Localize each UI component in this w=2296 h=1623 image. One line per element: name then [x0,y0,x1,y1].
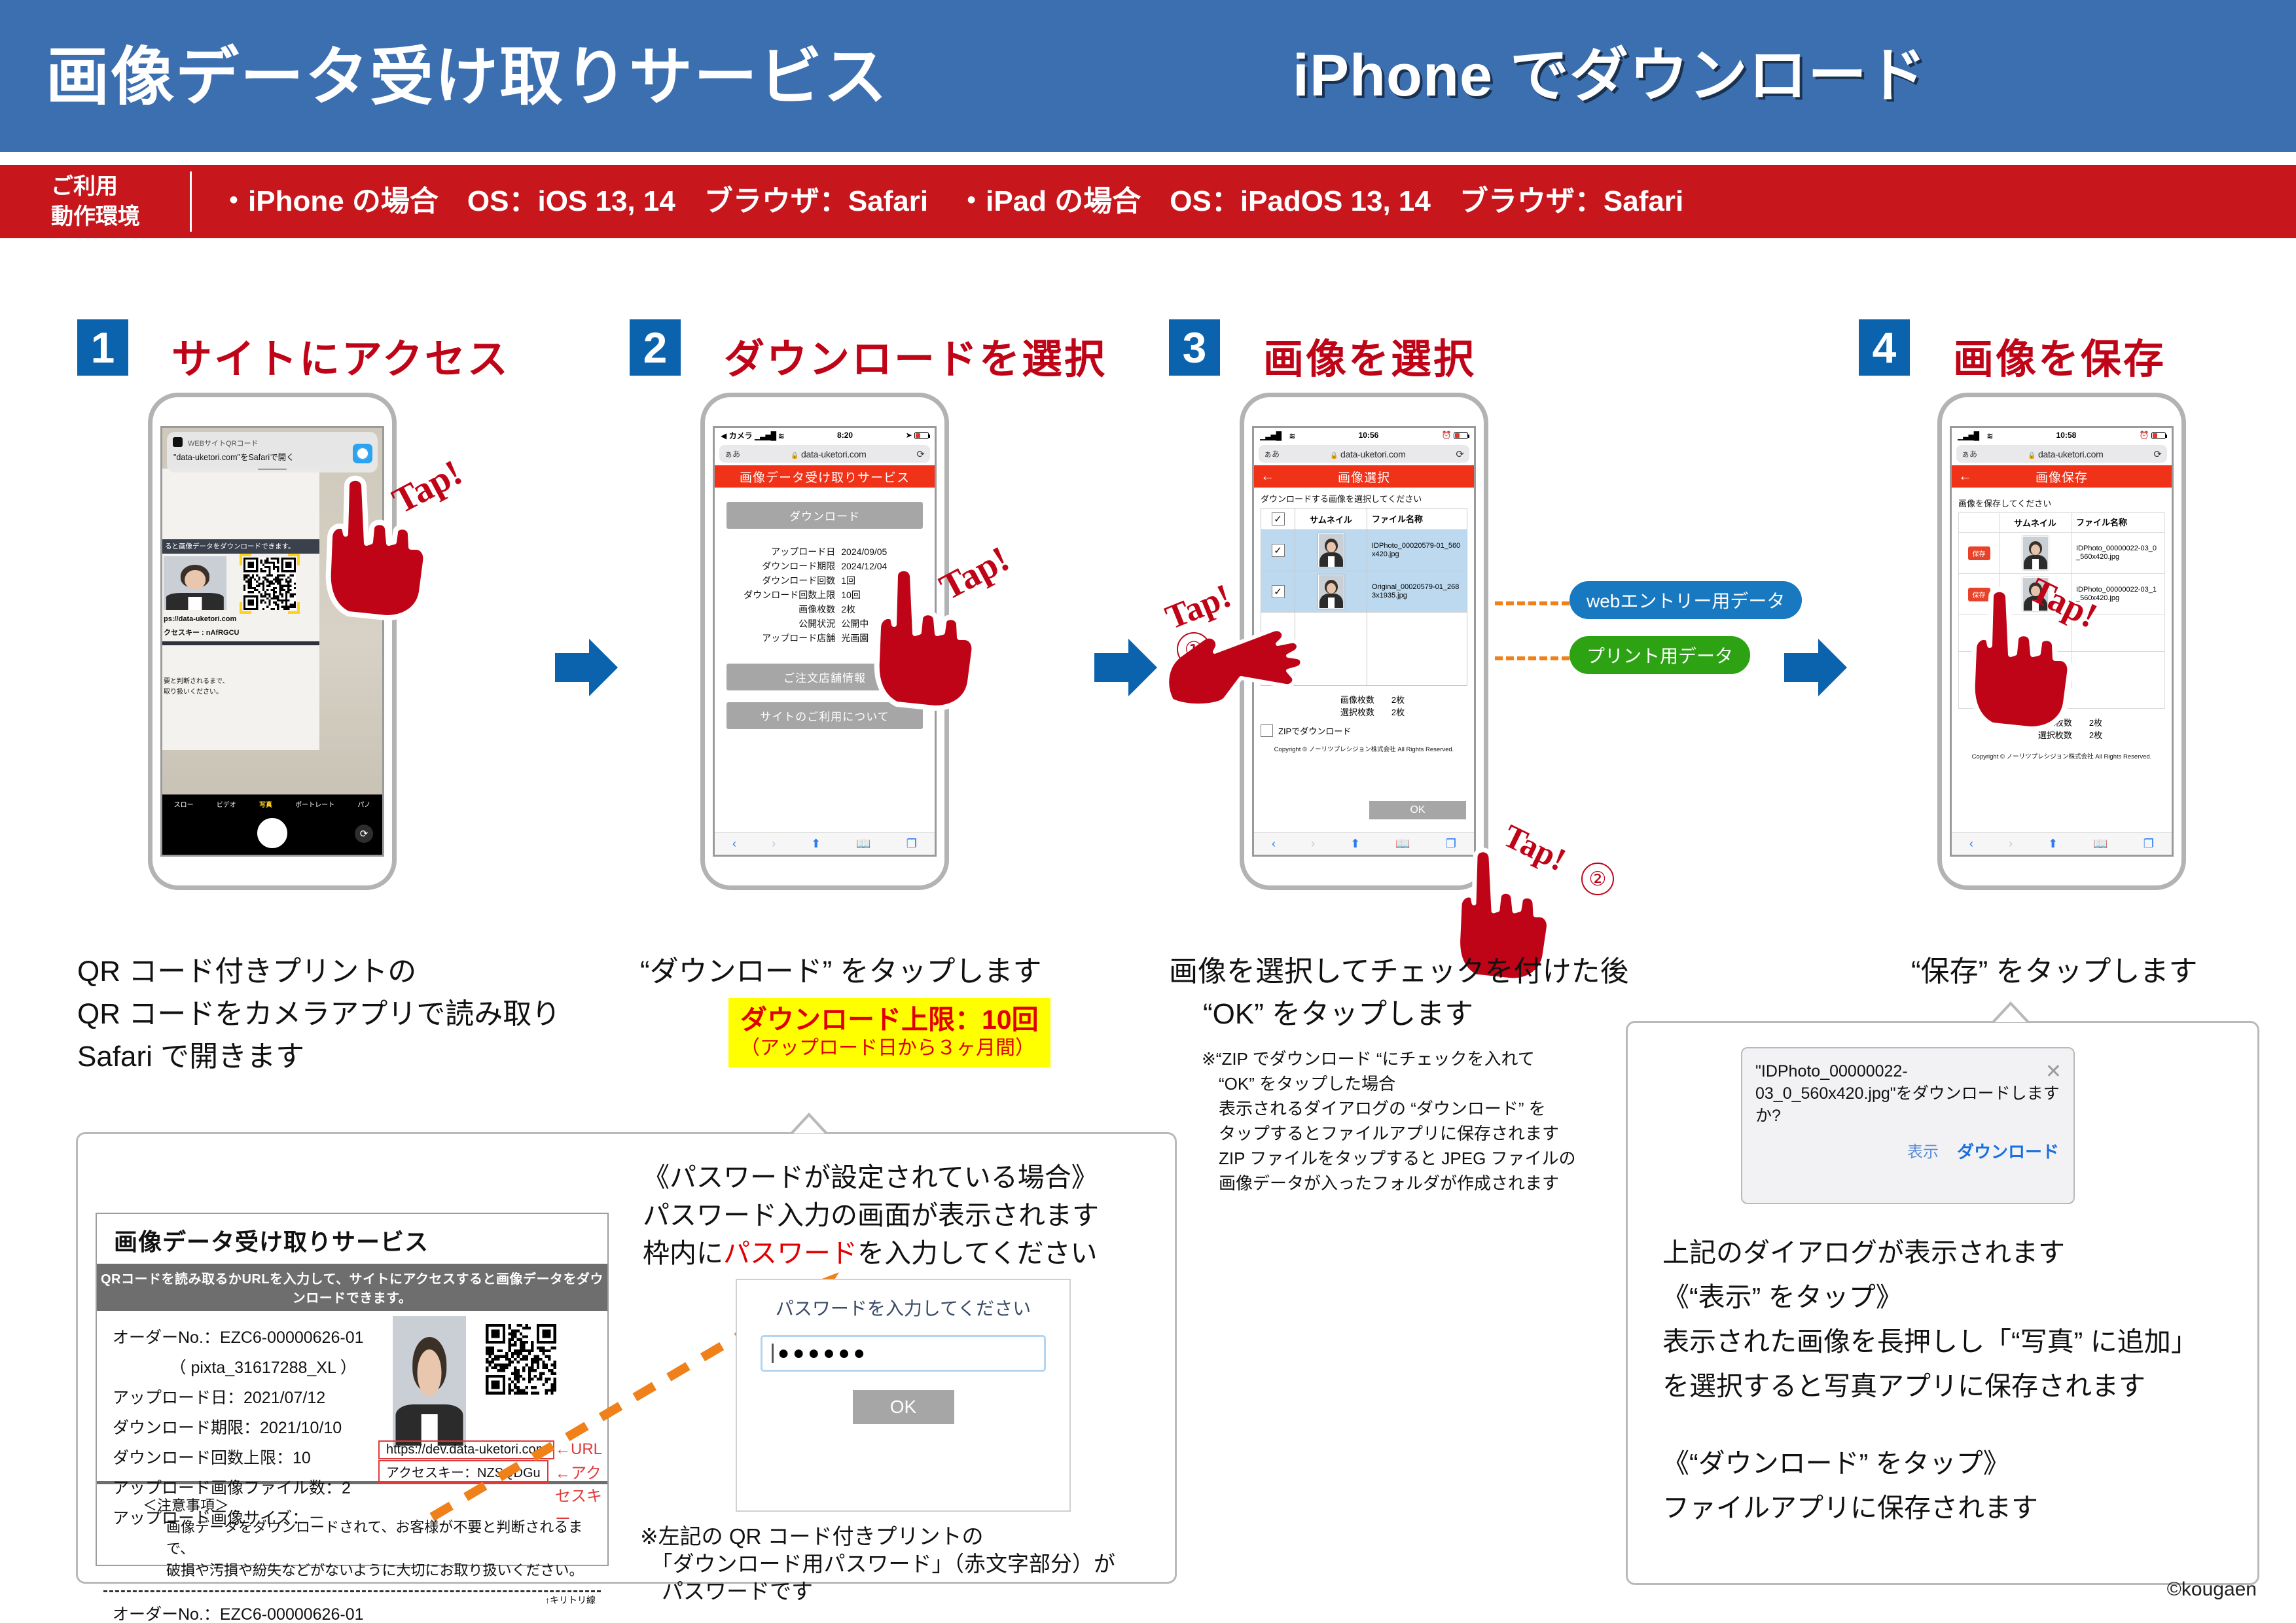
bookmarks-icon[interactable]: 📖 [2093,837,2108,851]
header-filename: ファイル名称 [1367,508,1467,529]
save-line-3: を選択すると写真アプリに保存されます [1662,1364,2198,1408]
password-input[interactable]: ●●●●●● [761,1335,1046,1372]
pill-print-data: プリント用データ [1570,636,1750,674]
poster-root: 画像データ受け取りサービス iPhone でダウンロード ご利用 動作環境 ・i… [0,0,2296,1623]
caption-step1-line1: QR コード付きプリントの [77,952,416,991]
password-footnote-0: ※左記の QR コード付きプリントの [640,1524,984,1550]
download-button[interactable]: ダウンロード [726,502,923,529]
camera-mode-3[interactable]: ポートレート [295,799,334,809]
battery-icon [2151,432,2166,439]
lock-icon: 🔒 [1330,452,1338,459]
camera-mode-2[interactable]: 写真 [259,799,272,809]
phone-3-status-bar: ▁▃▅█ ≋ 10:56 ⏰ [1254,428,1474,442]
dialog-download-button[interactable]: ダウンロード [1957,1139,2059,1163]
count-key: 画像枚数 [1323,694,1374,706]
card-caution-line2: 破損や汚損や紛失などがないように大切にお取り扱いください。 [166,1560,607,1581]
phone-3-app-title: 画像選択 [1338,468,1390,486]
save-button[interactable]: 保存 [1968,546,1990,560]
save-line-2: 表示された画像を長押しし「“写真” に追加」 [1662,1319,2198,1364]
download-limit-badge: ダウンロード上限：10回 （アップロード日から３ヶ月間） [728,998,1050,1067]
phone-3-clock: 10:56 [1359,431,1379,440]
info-key: ダウンロード回数上限 [721,588,841,602]
step-arrow-2-3 [1094,635,1157,700]
signal-icon: ▁▃▅█ [755,431,776,440]
password-footnote-2: パスワードです [640,1578,813,1605]
caption-step3-note-5: 画像データが入ったフォルダが作成されます [1202,1170,1559,1196]
signal-icon: ▁▃▅█ [1958,431,1979,440]
location-icon: ➤ [906,431,912,440]
tap-number-3a: ① [1177,632,1211,666]
caption-step3-note-2: 表示されるダイアログの “ダウンロード” を [1202,1096,1546,1122]
info-key: アップロード店舗 [721,631,841,645]
alarm-icon: ⏰ [1442,431,1452,440]
print-note-2: 取り扱いください。 [164,686,223,696]
back-icon[interactable]: ‹ [1272,837,1276,851]
share-icon[interactable]: ⬆ [1350,837,1360,851]
text-caret [772,1344,774,1363]
camera-mode-0[interactable]: スロー [174,799,194,809]
lock-icon: 🔒 [2028,452,2036,459]
forward-icon: › [2009,837,2013,851]
download-dialog-message: "IDPhoto_00000022-03_0_560x420.jpg"をダウンロ… [1742,1048,2073,1127]
back-arrow-icon[interactable]: ← [1958,469,1973,484]
notification-app-name: WEBサイトQRコード [188,438,259,448]
save-line-4 [1662,1408,2198,1441]
camera-controls: スロー ビデオ 写真 ポートレート パノ ⟳ [162,794,382,855]
zip-label: ZIPでダウンロード [1278,724,1351,737]
phone-3-url-bar[interactable]: ぁあ 🔒 data-uketori.com ⟳ [1259,445,1469,463]
card-title: 画像データ受け取りサービス [97,1214,607,1264]
footer-copyright: ©kougaen [2167,1578,2257,1601]
caption-step1-line3: Safari で開きます [77,1037,304,1077]
caption-step2-line1: “ダウンロード” をタップします [640,952,1042,991]
table-header-row: サムネイル ファイル名称 [1959,513,2164,533]
password-heading-1: 《パスワードが設定されている場合》 [643,1160,1098,1195]
phone-4-hint: 画像を保存してください [1952,488,2172,512]
count-value: 2枚 [1391,706,1405,719]
camera-mode-list[interactable]: スロー ビデオ 写真 ポートレート パノ [162,794,382,809]
phone-3-copyright: Copyright © ノーリツプレシジョン株式会社 All Rights Re… [1254,741,1474,753]
environment-divider [190,171,192,232]
row-checkbox[interactable]: ✓ [1272,544,1285,557]
tabs-icon[interactable]: ❐ [2144,837,2154,851]
reload-icon[interactable]: ⟳ [916,448,925,460]
share-icon[interactable]: ⬆ [2048,837,2058,851]
pill-connector-1 [1495,601,1570,605]
info-key: 画像枚数 [721,602,841,616]
download-dialog-actions[interactable]: 表示 ダウンロード [1742,1127,2073,1175]
info-key: アップロード日 [721,544,841,559]
save-panel-text: 上記のダイアログが表示されます 《“表示” をタップ》 表示された画像を長押しし… [1662,1230,2198,1530]
count-key: 選択枚数 [1323,706,1374,719]
count-row: 選択枚数2枚 [1254,706,1474,719]
phone-4-url-bar[interactable]: ぁあ 🔒 data-uketori.com ⟳ [1956,445,2167,463]
share-icon[interactable]: ⬆ [811,837,821,851]
password-input-value: ●●●●●● [778,1344,869,1363]
notification-message: "data-uketori.com"をSafariで開く [173,450,295,463]
select-all-checkbox[interactable]: ✓ [1272,512,1285,526]
header-filename: ファイル名称 [2072,513,2164,532]
caption-step3-note-3: タップするとファイルアプリに保存されます [1202,1120,1559,1147]
thumbnail-image [1318,575,1344,609]
count-value: 2枚 [1391,694,1405,706]
environment-text: ・iPhone の場合 OS：iOS 13, 14 ブラウザ：Safari ・i… [219,177,1683,219]
thumbnail-image [1318,533,1344,567]
step-title-1: サイトにアクセス [171,326,510,385]
caption-step3-note-1: “OK” をタップした場合 [1202,1071,1395,1097]
caption-step3-line2: “OK” をタップします [1203,995,1473,1034]
bookmarks-icon[interactable]: 📖 [856,837,870,851]
header-save-cell [1959,513,2000,532]
info-key: ダウンロード回数 [721,573,841,588]
environment-label-line1: ご利用 [51,171,182,202]
back-icon[interactable]: ‹ [1969,837,1973,851]
step-number-4: 4 [1859,319,1910,376]
battery-icon [914,432,929,439]
password-heading-3-pre: 枠内に [643,1238,723,1268]
wifi-icon: ≋ [1986,431,1993,440]
table-row[interactable]: ✓ IDPhoto_00020579-01_560x420.jpg [1261,530,1467,571]
reload-icon[interactable]: ⟳ [2153,448,2162,460]
password-heading-3: 枠内にパスワードを入力してください [643,1236,1098,1271]
password-footnote-1: 「ダウンロード用パスワード」（赤文字部分）が [640,1551,1115,1577]
info-key: 公開状況 [721,616,841,631]
phone-4-clock: 10:58 [2056,431,2077,440]
print-divider [162,641,319,645]
password-ok-button[interactable]: OK [853,1390,954,1424]
step-arrow-3-4 [1784,635,1847,700]
pill-connector-2 [1495,656,1570,660]
row-checkbox-cell[interactable]: ✓ [1261,530,1295,571]
qr-scan-brackets [240,554,300,614]
phone-4-url[interactable]: data-uketori.com [2038,449,2103,459]
tap-hand-3a: Tap! ① [1162,589,1313,707]
zip-checkbox[interactable] [1261,724,1273,737]
print-banner-text: ると画像データをダウンロードできます。 [165,541,295,551]
step-arrow-1-2 [555,635,618,700]
forward-icon: › [772,837,776,851]
caption-step1-line2: QR コードをカメラアプリで読み取り [77,995,560,1034]
save-panel-notch-inner [1995,1005,2026,1022]
phone-3-hint: ダウンロードする画像を選択してください [1254,488,1474,508]
text-size-button[interactable]: ぁあ [1962,448,1977,459]
save-line-0: 上記のダイアログが表示されます [1662,1230,2198,1275]
table-header-row: ✓ サムネイル ファイル名称 [1261,508,1467,530]
dialog-show-button[interactable]: 表示 [1907,1139,1939,1163]
print-url-text: ps://data-uketori.com [164,615,236,623]
shutter-button[interactable] [257,818,287,848]
back-icon[interactable]: ‹ [732,837,736,851]
row-filename: IDPhoto_00020579-01_560x420.jpg [1367,530,1467,571]
row-thumbnail-cell [1295,530,1367,571]
caption-step3-note-0: ※“ZIP でダウンロード “にチェックを入れて [1202,1046,1535,1072]
step-title-2: ダウンロードを選択 [724,326,1107,385]
lock-icon: 🔒 [791,452,798,459]
step-number-3: 3 [1169,319,1220,376]
notification-handle [258,469,287,470]
panel-notch-inner [793,1116,825,1133]
alarm-icon: ⏰ [2140,431,2149,440]
text-size-button[interactable]: ぁあ [725,448,740,459]
save-line-1: 《“表示” をタップ》 [1662,1275,2198,1319]
environment-label: ご利用 動作環境 [51,171,182,233]
close-icon[interactable]: ✕ [2045,1060,2062,1083]
pill-web-entry: webエントリー用データ [1570,581,1802,619]
phone-4-app-bar: ← 画像保存 [1952,465,2172,488]
save-line-5: 《“ダウンロード” をタップ》 [1662,1441,2198,1486]
caption-step4-line1: “保存” をタップします [1911,952,2198,991]
phone-4-app-title: 画像保存 [2036,468,2088,486]
step-number-2: 2 [630,319,681,376]
password-heading-2: パスワード入力の画面が表示されます [643,1198,1099,1233]
download-limit-line1: ダウンロード上限：10回 [740,1003,1039,1036]
row-filename: Original_00020579-01_2683x1935.jpg [1367,571,1467,612]
print-key-text: クセスキー : nAfRGCU [164,627,240,637]
qr-code-icon [173,437,183,447]
phone-4-status-bar: ▁▃▅█ ≋ 10:58 ⏰ [1952,428,2172,442]
camera-flip-icon[interactable]: ⟳ [355,825,373,843]
download-dialog: "IDPhoto_00000022-03_0_560x420.jpg"をダウンロ… [1741,1047,2075,1204]
phone-2-url-bar[interactable]: ぁあ 🔒 data-uketori.com ⟳ [719,445,930,463]
wifi-icon: ≋ [778,431,784,440]
camera-mode-1[interactable]: ビデオ [217,799,236,809]
phone-2-status-bar: ◀ カメラ ▁▃▅█ ≋ 8:20 ➤ [715,428,935,442]
phone-4-safari-toolbar[interactable]: ‹ › ⬆ 📖 ❐ [1952,832,2172,855]
battery-icon [1454,432,1468,439]
card-bottom-order: オーダーNo.：EZC6-00000626-01 [113,1600,607,1623]
bookmarks-icon[interactable]: 📖 [1395,837,1410,851]
text-size-button[interactable]: ぁあ [1264,448,1280,459]
save-line-6: ファイルアプリに保存されます [1662,1486,2198,1530]
tap-hand-4: Tap! [1952,563,2096,733]
ok-button[interactable]: OK [1369,801,1466,819]
password-dialog-title: パスワードを入力してください [737,1280,1069,1321]
step-title-4: 画像を保存 [1953,326,2166,385]
tap-hand-1: Tap! [308,452,452,622]
tap-hand-2: Tap! [856,542,1000,712]
page-subtitle: iPhone でダウンロード [1293,27,1927,113]
phone-3-url[interactable]: data-uketori.com [1340,449,1405,459]
header-thumbnail: サムネイル [2000,513,2072,532]
caption-step3-line1: 画像を選択してチェックを付けた後 [1169,952,1629,991]
phone-4-copyright: Copyright © ノーリツプレシジョン株式会社 All Rights Re… [1952,748,2172,760]
phone-3-app-bar: ← 画像選択 [1254,465,1474,488]
signal-icon: ▁▃▅█ [1260,431,1281,440]
camera-mode-4[interactable]: パノ [357,799,370,809]
page-title: 画像データ受け取りサービス [46,25,888,117]
card-bottom: オーダーNo.：EZC6-00000626-01 ダウンロード用パスワード： j… [97,1592,607,1623]
password-heading-3-post: を入力してください [857,1238,1098,1268]
wifi-icon: ≋ [1289,431,1295,440]
tap-number-3b: ② [1581,863,1614,895]
print-note-1: 要と判断されるまで、 [164,675,229,685]
phone-2-status-left: ◀ カメラ [721,431,753,440]
header-thumbnail: サムネイル [1295,508,1367,529]
print-photo [164,556,226,610]
caption-step3-note-4: ZIP ファイルをタップすると JPEG ファイルの [1202,1145,1576,1171]
tabs-icon[interactable]: ❐ [906,837,917,851]
info-key: ダウンロード期限 [721,559,841,573]
phone-2-safari-toolbar[interactable]: ‹ › ⬆ 📖 ❐ [715,832,935,855]
phone-2-app-bar: 画像データ受け取りサービス [715,465,935,488]
phone-2-clock: 8:20 [837,431,853,440]
reload-icon[interactable]: ⟳ [1456,448,1464,460]
zip-download-row[interactable]: ZIPでダウンロード [1254,719,1474,737]
card-cut-label: ↑キリトリ線 [545,1594,596,1607]
step-title-3: 画像を選択 [1263,326,1476,385]
phone-2-url[interactable]: data-uketori.com [801,449,866,459]
step-number-1: 1 [77,319,128,376]
forward-icon: › [1311,837,1315,851]
download-limit-line2: （アップロード日から３ヶ月間） [740,1036,1039,1061]
header-check-cell[interactable]: ✓ [1261,508,1295,529]
back-arrow-icon[interactable]: ← [1261,469,1275,484]
password-dialog: パスワードを入力してください ●●●●●● OK [736,1279,1071,1512]
password-heading-3-red: パスワード [723,1238,857,1268]
environment-label-line2: 動作環境 [51,202,182,232]
